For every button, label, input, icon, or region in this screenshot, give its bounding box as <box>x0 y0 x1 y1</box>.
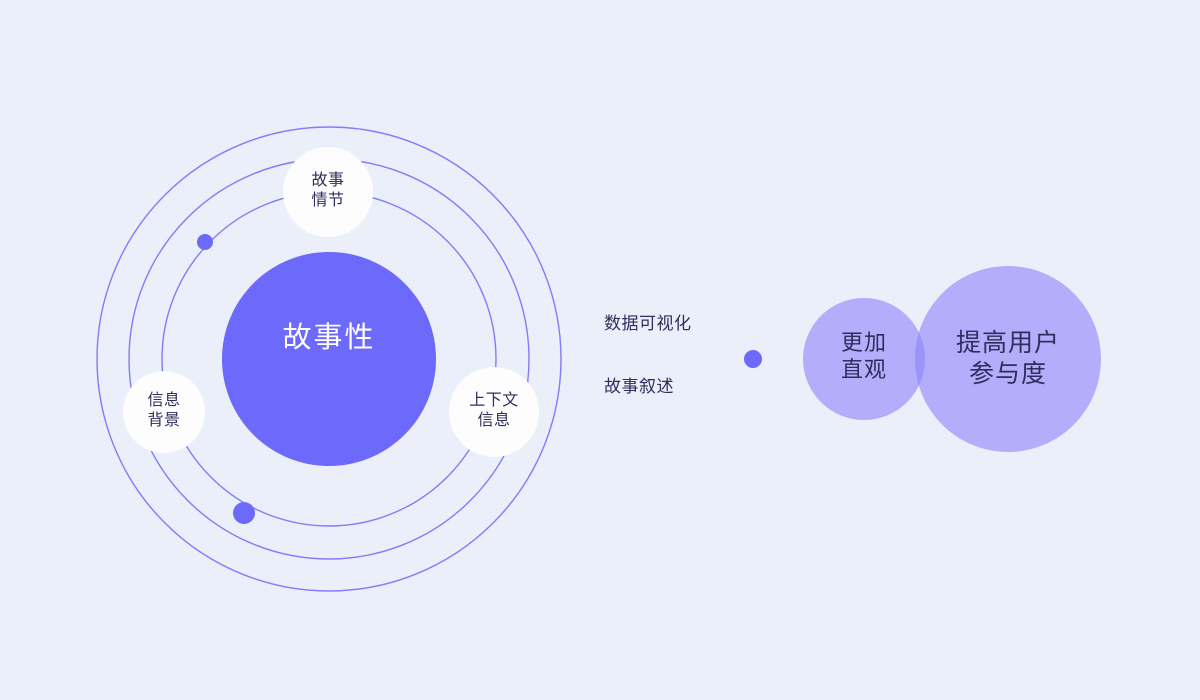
satellite-label-context-info: 上下文 信息 <box>434 391 554 430</box>
connector-label-top: 数据可视化 <box>604 314 824 335</box>
orbit-dot-lower-left <box>233 502 255 524</box>
satellite-label-info-background: 信息 背景 <box>104 391 224 430</box>
diagram-canvas: 故事性 故事 情节 信息 背景 上下文 信息 数据可视化 故事叙述 更加 直观 … <box>0 0 1200 700</box>
core-label: 故事性 <box>209 321 449 356</box>
satellite-label-story-plot: 故事 情节 <box>268 171 388 210</box>
orbit-dot-upper-left <box>197 234 213 250</box>
venn-label-more-intuitive: 更加 直观 <box>804 330 924 384</box>
connector-end-dot <box>744 350 762 368</box>
connector-label-bottom: 故事叙述 <box>604 377 824 398</box>
core-circle[interactable] <box>222 252 436 466</box>
venn-label-higher-engagement: 提高用户 参与度 <box>908 328 1108 389</box>
